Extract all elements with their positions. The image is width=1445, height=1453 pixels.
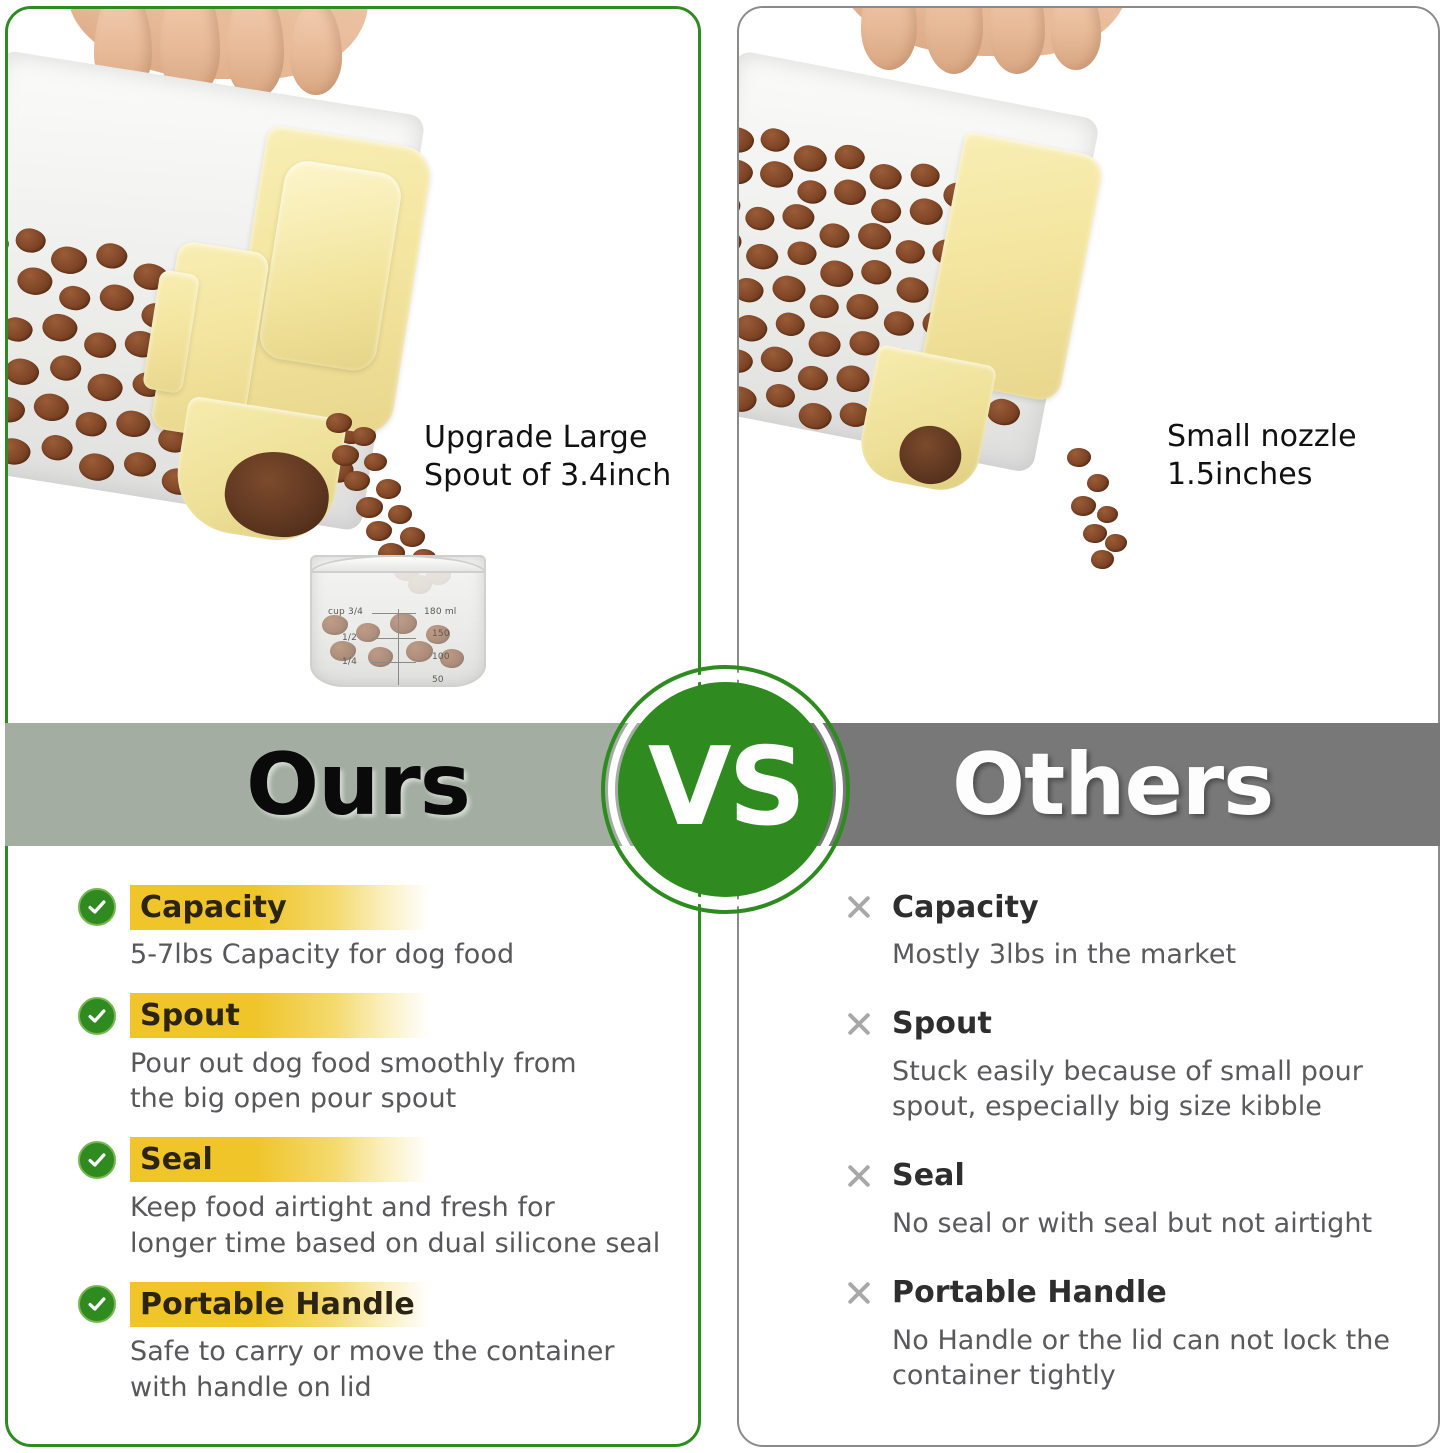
feature-title: Spout (140, 998, 240, 1033)
feature-item-portable-handle-ours: Portable Handle Safe to carry or move th… (78, 1283, 678, 1405)
cup-tick (372, 613, 416, 614)
feature-description: Keep food airtight and fresh for longer … (130, 1190, 678, 1261)
cup-tick-vertical (398, 609, 399, 685)
check-icon (78, 1141, 116, 1179)
feature-item-spout-others: Spout Stuck easily because of small pour… (840, 1003, 1420, 1125)
cup-tick (372, 662, 416, 663)
feature-description: 5-7lbs Capacity for dog food (130, 937, 678, 973)
cup-mark-left-1: 1/2 (342, 633, 357, 643)
cup-tick (372, 638, 416, 639)
feature-item-capacity-others: Capacity Mostly 3lbs in the market (840, 886, 1420, 973)
cup-mark-left-2: 1/4 (342, 657, 357, 667)
others-product-photo: 180 ml floz 6 3/4 cup 4 2 Small nozzle 1… (739, 8, 1438, 708)
vs-disc: VS (618, 682, 833, 897)
cup-rim (310, 555, 486, 573)
feature-title: Seal (140, 1142, 213, 1177)
ours-label: Ours (246, 735, 470, 835)
feature-item-spout-ours: Spout Pour out dog food smoothly from th… (78, 995, 678, 1117)
feature-description: Safe to carry or move the container with… (130, 1334, 678, 1405)
feature-description: No Handle or the lid can not lock the co… (892, 1323, 1420, 1394)
feature-item-seal-others: Seal No seal or with seal but not airtig… (840, 1155, 1420, 1242)
feature-title: Portable Handle (140, 1287, 415, 1322)
cup-mark-left-6: 50 (432, 675, 444, 685)
ours-feature-list: Capacity 5-7lbs Capacity for dog food Sp… (78, 886, 678, 1427)
feature-item-seal-ours: Seal Keep food airtight and fresh for lo… (78, 1139, 678, 1261)
ours-product-photo: cup 3/4 1/2 1/4 180 ml 150 100 50 Upgrad… (8, 9, 698, 709)
feature-item-portable-handle-others: Portable Handle No Handle or the lid can… (840, 1272, 1420, 1394)
feature-title-highlight: Capacity (130, 885, 430, 930)
feature-title: Seal (892, 1158, 965, 1193)
others-label: Others (952, 735, 1273, 835)
feature-title: Capacity (892, 890, 1039, 925)
x-icon (840, 888, 878, 926)
feature-title: Capacity (140, 890, 287, 925)
feature-description: Pour out dog food smoothly from the big … (130, 1046, 678, 1117)
feature-title-highlight: Seal (130, 1137, 430, 1182)
feature-title-highlight: Spout (130, 993, 430, 1038)
feature-title-highlight: Portable Handle (130, 1282, 430, 1327)
x-icon (840, 1005, 878, 1043)
others-photo-caption: Small nozzle 1.5inches (1167, 418, 1357, 494)
x-icon (840, 1157, 878, 1195)
check-icon (78, 888, 116, 926)
feature-description: Stuck easily because of small pour spout… (892, 1054, 1420, 1125)
vs-label: VS (648, 734, 803, 842)
feature-item-capacity-ours: Capacity 5-7lbs Capacity for dog food (78, 886, 678, 973)
infographic-root: cup 3/4 1/2 1/4 180 ml 150 100 50 Upgrad… (0, 0, 1445, 1453)
check-icon (78, 997, 116, 1035)
vs-badge: VS (601, 665, 850, 914)
cup-mark-left-5: 100 (432, 652, 450, 662)
feature-description: No seal or with seal but not airtight (892, 1206, 1420, 1242)
feature-title: Spout (892, 1006, 992, 1041)
check-icon (78, 1285, 116, 1323)
ours-photo-caption: Upgrade Large Spout of 3.4inch (424, 419, 671, 495)
cup-mark-left-4: 150 (432, 629, 450, 639)
kibble-stream-right (1057, 448, 1177, 578)
x-icon (840, 1274, 878, 1312)
cup-mark-left-3: 180 ml (424, 607, 457, 617)
cup-mark-left-0: cup 3/4 (328, 607, 363, 617)
measuring-cup-left: cup 3/4 1/2 1/4 180 ml 150 100 50 (310, 555, 486, 687)
others-feature-list: Capacity Mostly 3lbs in the market Spout… (840, 886, 1420, 1424)
feature-title: Portable Handle (892, 1275, 1167, 1310)
feature-description: Mostly 3lbs in the market (892, 937, 1420, 973)
